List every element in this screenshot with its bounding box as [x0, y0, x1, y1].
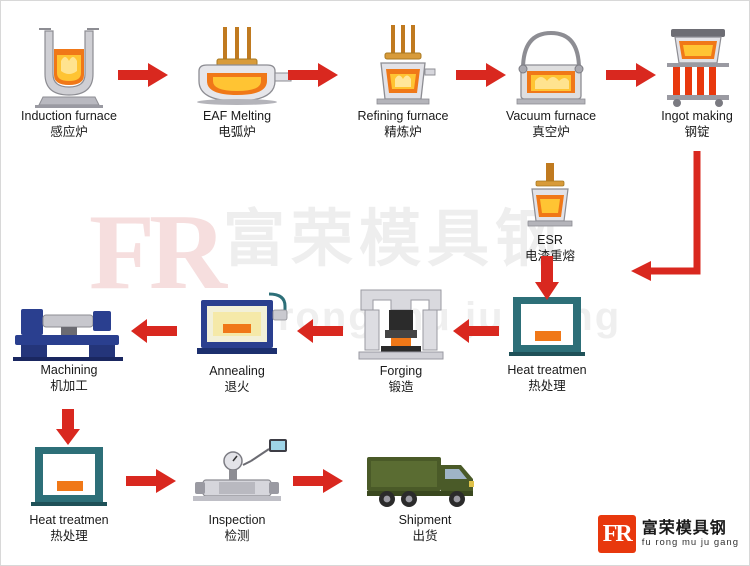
- node-label-cn: 钢锭: [633, 124, 750, 140]
- arrow-refining-to-vacuum: [456, 63, 506, 87]
- arrow-esr-to-heat-treatment: [535, 256, 559, 300]
- heat-treatment-icon: [5, 441, 133, 513]
- brand-logo: FR 富荣模具钢 fu rong mu ju gang: [598, 515, 739, 553]
- node-heat-treatment-2: Heat treatmen 热处理: [5, 441, 133, 544]
- vacuum-furnace-icon: [487, 19, 615, 109]
- machining-lathe-icon: [5, 289, 133, 363]
- node-forging: Forging 锻造: [337, 286, 465, 395]
- node-vacuum-furnace: Vacuum furnace 真空炉: [487, 19, 615, 140]
- arrow-heat-to-inspection: [126, 469, 176, 493]
- eaf-furnace-icon: [173, 19, 301, 109]
- brand-mark: FR: [598, 515, 636, 553]
- annealing-furnace-icon: [173, 286, 301, 364]
- node-label-en: Heat treatmen: [483, 363, 611, 378]
- arrow-induction-to-eaf: [118, 63, 168, 87]
- arrow-vacuum-to-ingot: [606, 63, 656, 87]
- node-label-cn: 真空炉: [487, 124, 615, 140]
- node-refining-furnace: Refining furnace 精炼炉: [339, 19, 467, 140]
- node-label-en: Induction furnace: [5, 109, 133, 124]
- node-label-en: EAF Melting: [173, 109, 301, 124]
- node-label-en: Inspection: [173, 513, 301, 528]
- brand-text: 富荣模具钢 fu rong mu ju gang: [642, 520, 739, 549]
- node-label-en: Refining furnace: [339, 109, 467, 124]
- node-eaf-melting: EAF Melting 电弧炉: [173, 19, 301, 140]
- arrow-inspection-to-shipment: [293, 469, 343, 493]
- node-label-en: Vacuum furnace: [487, 109, 615, 124]
- node-label-cn: 感应炉: [5, 124, 133, 140]
- node-label-cn: 精炼炉: [339, 124, 467, 140]
- node-label-cn: 锻造: [337, 379, 465, 395]
- node-heat-treatment-1: Heat treatmen 热处理: [483, 291, 611, 394]
- node-label-en: Shipment: [361, 513, 489, 528]
- induction-furnace-icon: [5, 19, 133, 109]
- arrow-heat-to-forging: [453, 319, 499, 343]
- node-label-en: Forging: [337, 364, 465, 379]
- node-label-en: Heat treatmen: [5, 513, 133, 528]
- node-label-cn: 检测: [173, 528, 301, 544]
- arrow-eaf-to-refining: [288, 63, 338, 87]
- node-label-cn: 电弧炉: [173, 124, 301, 140]
- node-label-en: Ingot making: [633, 109, 750, 124]
- truck-icon: [361, 437, 489, 513]
- node-label-cn: 热处理: [5, 528, 133, 544]
- arrow-forging-to-annealing: [297, 319, 343, 343]
- node-inspection: Inspection 检测: [173, 435, 301, 544]
- node-label-cn: 机加工: [5, 378, 133, 394]
- heat-treatment-icon: [483, 291, 611, 363]
- forging-press-icon: [337, 286, 465, 364]
- node-label-cn: 退火: [173, 379, 301, 395]
- node-annealing: Annealing 退火: [173, 286, 301, 395]
- diagram-canvas: FR 富荣模具钢 fu rong mu ju gang Induct: [0, 0, 750, 566]
- brand-name-pinyin: fu rong mu ju gang: [642, 537, 739, 549]
- node-machining: Machining 机加工: [5, 289, 133, 394]
- inspection-device-icon: [173, 435, 301, 513]
- node-shipment: Shipment 出货: [361, 437, 489, 544]
- node-label-cn: 热处理: [483, 378, 611, 394]
- node-induction-furnace: Induction furnace 感应炉: [5, 19, 133, 140]
- brand-name-cn: 富荣模具钢: [642, 520, 739, 537]
- node-label-en: Annealing: [173, 364, 301, 379]
- node-label-cn: 出货: [361, 528, 489, 544]
- arrow-machining-to-heat-treatment: [56, 409, 80, 445]
- refining-furnace-icon: [339, 19, 467, 109]
- arrow-annealing-to-machining: [131, 319, 177, 343]
- node-label-en: Machining: [5, 363, 133, 378]
